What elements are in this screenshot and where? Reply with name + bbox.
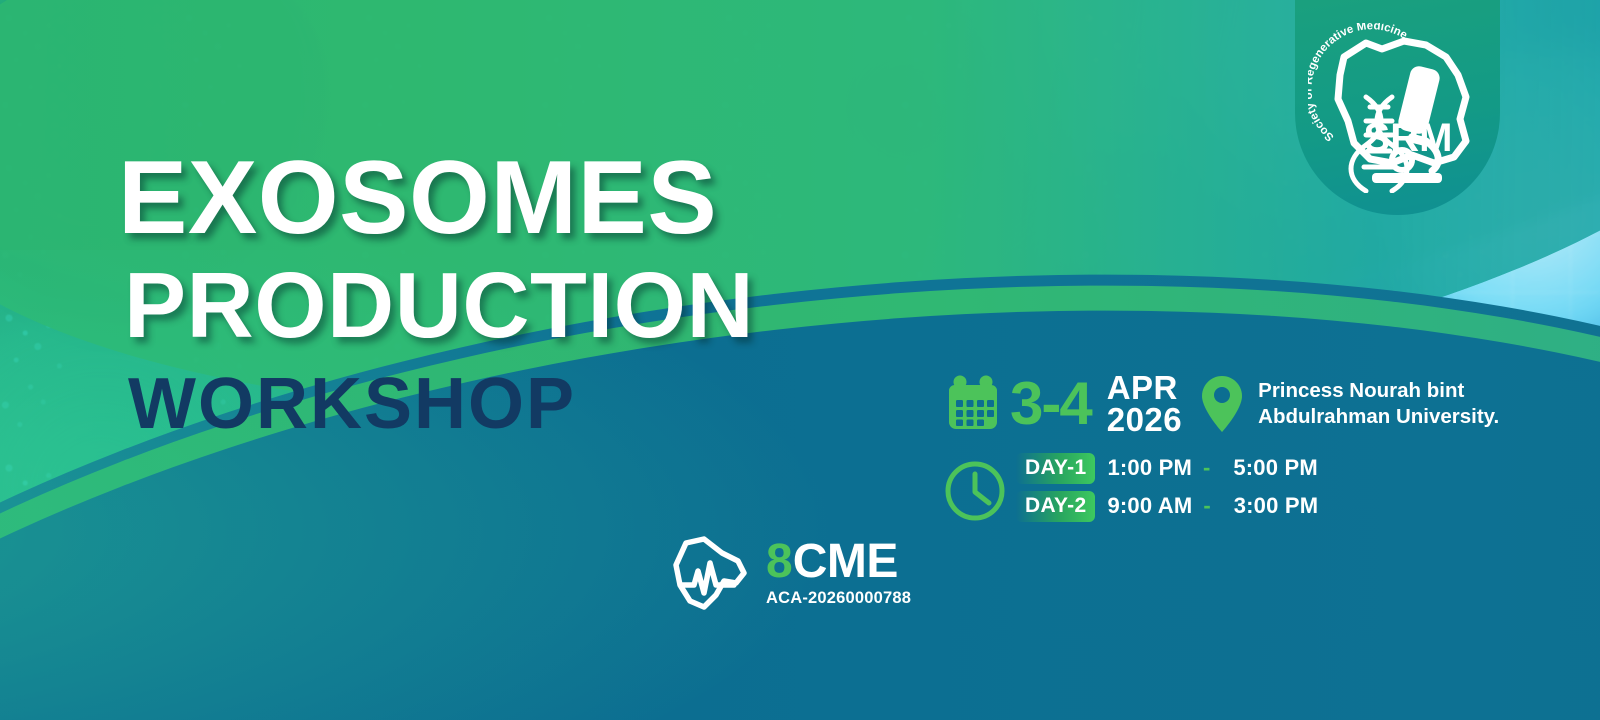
cme-text-block: 8CME ACA-20260000788 xyxy=(766,540,911,607)
venue-address: Princess Nourah bint Abdulrahman Univers… xyxy=(1258,378,1499,430)
srm-acronym: SRM xyxy=(1363,116,1452,160)
day1-start-time: 1:00 PM xyxy=(1107,455,1192,481)
event-details-panel: 3-4 APR 2026 Princess Nourah bint Abdulr… xyxy=(944,372,1499,529)
day-badge: DAY-2 xyxy=(1016,491,1095,522)
cme-credit-count: 8 xyxy=(766,535,793,588)
time-separator: - xyxy=(1203,455,1210,481)
srm-logo-icon: Society of Regenerative Medicine SRM xyxy=(1308,23,1488,193)
title-line-exosomes: EXOSOMES xyxy=(118,148,754,250)
venue-line-1: Princess Nourah bint xyxy=(1258,378,1499,404)
day2-start-time: 9:00 AM xyxy=(1107,493,1192,519)
venue-line-2: Abdulrahman University. xyxy=(1258,404,1499,430)
cme-accreditation-code: ACA-20260000788 xyxy=(766,589,911,608)
day1-end-time: 5:00 PM xyxy=(1233,455,1318,481)
schedule-lines: DAY-1 1:00 PM - 5:00 PM DAY-2 9:00 AM - … xyxy=(1016,453,1318,529)
cme-accreditation: 8CME ACA-20260000788 xyxy=(664,533,911,615)
event-banner: EXOSOMES PRODUCTION WORKSHOP xyxy=(0,0,1600,720)
schedule-row: DAY-1 1:00 PM - 5:00 PM DAY-2 9:00 AM - … xyxy=(944,453,1499,529)
schedule-row-day2: DAY-2 9:00 AM - 3:00 PM xyxy=(1016,491,1318,522)
calendar-icon xyxy=(944,375,1002,433)
day2-end-time: 3:00 PM xyxy=(1234,493,1319,519)
heartbeat-hand-icon xyxy=(664,533,756,615)
srm-logo-badge: Society of Regenerative Medicine SRM xyxy=(1295,0,1500,215)
cme-credits-title: 8CME xyxy=(766,540,911,584)
time-separator: - xyxy=(1203,493,1210,519)
title-line-production: PRODUCTION xyxy=(124,260,754,351)
title-line-workshop: WORKSHOP xyxy=(128,369,754,440)
event-year: 2026 xyxy=(1107,404,1182,436)
date-venue-row: 3-4 APR 2026 Princess Nourah bint Abdulr… xyxy=(944,372,1499,437)
schedule-row-day1: DAY-1 1:00 PM - 5:00 PM xyxy=(1016,453,1318,484)
page-title: EXOSOMES PRODUCTION WORKSHOP xyxy=(118,148,754,440)
location-pin-icon xyxy=(1200,374,1244,434)
event-month: APR xyxy=(1107,372,1182,404)
event-days: 3-4 xyxy=(1010,374,1091,434)
clock-icon xyxy=(944,460,1006,522)
day-badge: DAY-1 xyxy=(1016,453,1095,484)
event-month-year: APR 2026 xyxy=(1107,372,1182,437)
cme-unit-label: CME xyxy=(793,535,898,588)
